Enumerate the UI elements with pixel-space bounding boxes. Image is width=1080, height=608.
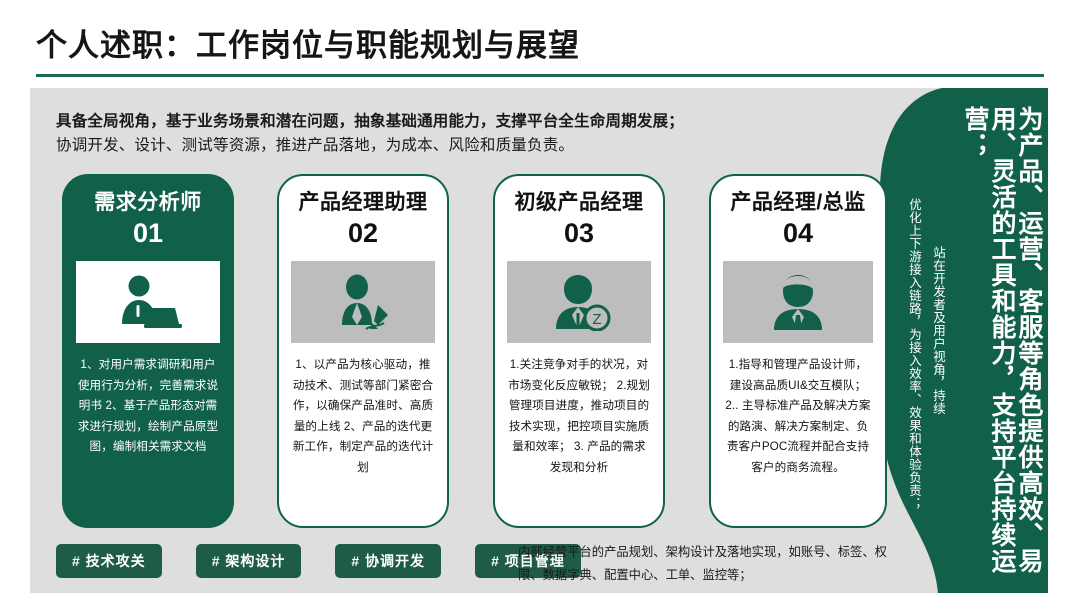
- banner-sub-text-b: 站在开发者及用户视角，持续: [931, 246, 945, 536]
- card-thumbnail: Z: [507, 261, 651, 343]
- card-description: 1.关注竞争对手的状况，对市场变化反应敏锐； 2.规划管理项目进度，推动项目的技…: [507, 355, 651, 479]
- intro-line-2: 协调开发、设计、测试等资源，推进产品落地，为成本、风险和质量负责。: [56, 134, 846, 158]
- banner-sub-text-a: 优化上下游接入链路，为接入效率、效果和体验负责；: [907, 198, 921, 568]
- banner-main-text: 为产品、运营、客服等角色提供高效、易用、灵活的工具和能力，支持平台持续运营；: [961, 106, 1042, 576]
- card-number-label: 01: [76, 217, 220, 251]
- card-role-label: 产品经理助理: [291, 190, 435, 215]
- green-banner: 为产品、运营、客服等角色提供高效、易用、灵活的工具和能力，支持平台持续运营； 优…: [880, 88, 1048, 593]
- card-number-label: 04: [723, 217, 873, 251]
- bottom-note: 内部经营平台的产品规划、架构设计及落地实现，如账号、标签、权限、数据字典、配置中…: [518, 541, 888, 586]
- card-description: 1.指导和管理产品设计师，建设高品质UI&交互模队； 2.. 主导标准产品及解决…: [723, 355, 873, 479]
- tag-item-2[interactable]: # 架构设计: [196, 544, 302, 578]
- person-with-pen-icon: [326, 273, 400, 331]
- card-thumbnail: [76, 261, 220, 343]
- chevron-right-icon-1: [306, 470, 332, 514]
- title-divider: [36, 74, 1044, 77]
- stage-card-3[interactable]: 初级产品经理 03 Z 1.关注竞争对手的状况，对市场变化反应敏锐； 2.规划管…: [493, 174, 665, 528]
- card-thumbnail: [291, 261, 435, 343]
- card-thumbnail: [723, 261, 873, 343]
- svg-text:Z: Z: [592, 311, 601, 328]
- card-role-label: 初级产品经理: [507, 190, 651, 215]
- tag-item-3[interactable]: # 协调开发: [335, 544, 441, 578]
- chevron-right-icon-2: [522, 470, 548, 514]
- chevron-right-icon: [738, 470, 764, 514]
- card-description: 1、对用户需求调研和用户使用行为分析，完善需求说明书 2、基于产品形态对需求进行…: [76, 355, 220, 458]
- chevron-right-icon: [522, 470, 548, 514]
- card-role-label: 需求分析师: [76, 190, 220, 215]
- stage-card-1[interactable]: 需求分析师 01 1、对用户需求调研和用户使用行为分析，完善需求说明书 2、基于…: [62, 174, 234, 528]
- person-at-laptop-icon: [111, 274, 185, 330]
- chevron-right-icon-3: [738, 470, 764, 514]
- manager-portrait-icon: [763, 273, 833, 331]
- intro-line-1: 具备全局视角，基于业务场景和潜在问题，抽象基础通用能力，支撑平台全生命周期发展；: [56, 110, 846, 134]
- tag-list: # 技术攻关 # 架构设计 # 协调开发 # 项目管理: [56, 544, 581, 578]
- person-with-z-badge-icon: Z: [542, 273, 616, 331]
- stage-card-4[interactable]: 产品经理/总监 04 1.指导和管理产品设计师，建设高品质UI&交互模队； 2.…: [709, 174, 887, 528]
- chevron-right-icon: [306, 470, 332, 514]
- card-number-label: 02: [291, 217, 435, 251]
- page-title: 个人述职：工作岗位与职能规划与展望: [36, 20, 580, 65]
- slide-root: 个人述职：工作岗位与职能规划与展望 为产品、运营、客服等角色提供高效、易用、灵活…: [0, 0, 1080, 608]
- intro-paragraph: 具备全局视角，基于业务场景和潜在问题，抽象基础通用能力，支撑平台全生命周期发展；…: [56, 110, 846, 158]
- card-role-label: 产品经理/总监: [723, 190, 873, 215]
- stage-card-2[interactable]: 产品经理助理 02 1、以产品为核心驱动，推动技术、测试等部门紧密合作，以确保产…: [277, 174, 449, 528]
- card-number-label: 03: [507, 217, 651, 251]
- tag-item-1[interactable]: # 技术攻关: [56, 544, 162, 578]
- card-description: 1、以产品为核心驱动，推动技术、测试等部门紧密合作，以确保产品准时、高质量的上线…: [291, 355, 435, 479]
